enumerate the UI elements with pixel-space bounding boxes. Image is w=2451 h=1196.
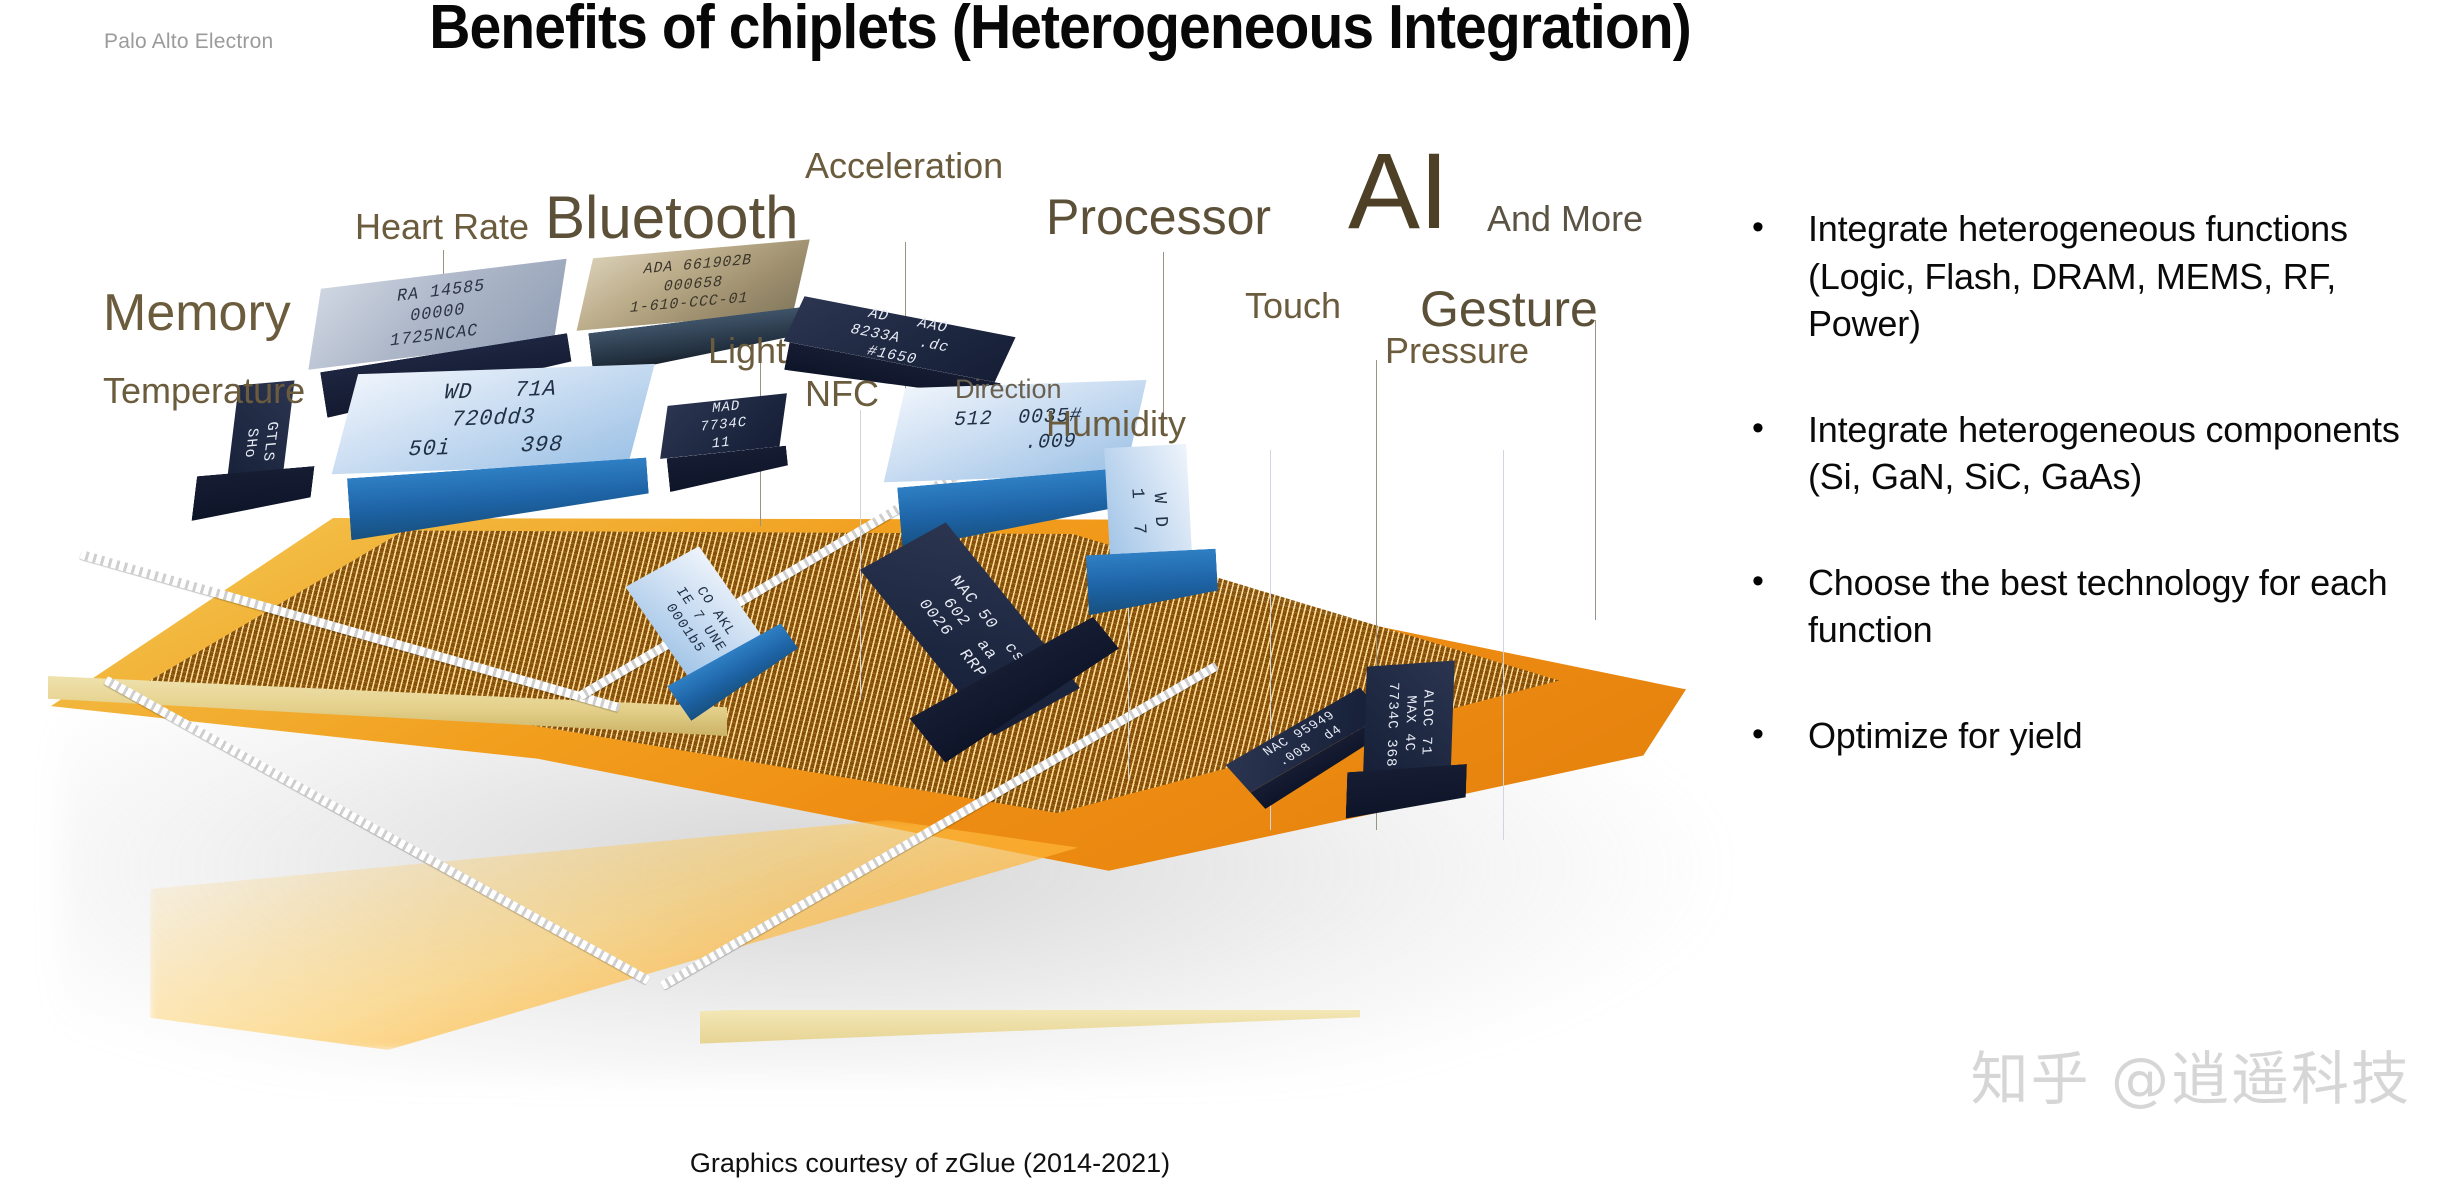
label-heart-rate: Heart Rate bbox=[355, 206, 529, 248]
bluetooth-chip: WD 71A 720dd3 50i 398 bbox=[340, 360, 650, 531]
list-item: • Integrate heterogeneous functions (Log… bbox=[1740, 205, 2440, 348]
label-temperature: Temperature bbox=[103, 370, 305, 412]
bluetooth-chip-markings: WD 71A 720dd3 50i 398 bbox=[332, 364, 655, 474]
temperature-chip: GTLS SHo bbox=[192, 409, 321, 513]
label-light: Light bbox=[708, 330, 786, 372]
bullet-text: Choose the best technology for each func… bbox=[1808, 559, 2440, 654]
watermark: 知乎 @逍遥科技 bbox=[1971, 1032, 2411, 1116]
list-item: • Optimize for yield bbox=[1740, 712, 2440, 760]
bullet-text: Optimize for yield bbox=[1808, 712, 2083, 760]
bullet-marker: • bbox=[1740, 712, 1808, 760]
label-nfc: NFC bbox=[805, 373, 879, 415]
label-ai: AI bbox=[1348, 128, 1448, 253]
leader-pressure bbox=[1503, 450, 1504, 840]
label-touch: Touch bbox=[1245, 285, 1341, 327]
label-acceleration: Acceleration bbox=[805, 145, 1003, 187]
bullet-marker: • bbox=[1740, 406, 1808, 501]
bullet-marker: • bbox=[1740, 205, 1808, 348]
bullet-text: Integrate heterogeneous components (Si, … bbox=[1808, 406, 2440, 501]
page-title: Benefits of chiplets (Heterogeneous Inte… bbox=[85, 0, 2035, 63]
label-humidity: Humidity bbox=[1046, 403, 1186, 445]
nfc-chip: MAD 7734C 11 bbox=[661, 394, 789, 486]
bullet-text: Integrate heterogeneous functions (Logic… bbox=[1808, 205, 2440, 348]
gesture-chip: W D 1 7 bbox=[1082, 467, 1219, 609]
label-and-more: And More bbox=[1487, 198, 1643, 240]
chiplet-illustration: RA 14585 00000 1725NCAC ADA 661902B 0006… bbox=[0, 120, 1760, 1140]
list-item: • Integrate heterogeneous components (Si… bbox=[1740, 406, 2440, 501]
label-pressure: Pressure bbox=[1385, 330, 1529, 372]
label-processor: Processor bbox=[1046, 188, 1271, 246]
label-memory: Memory bbox=[103, 283, 291, 343]
label-direction: Direction bbox=[955, 374, 1062, 405]
label-bluetooth: Bluetooth bbox=[545, 183, 799, 252]
benefits-list: • Integrate heterogeneous functions (Log… bbox=[1740, 205, 2440, 817]
ai-chip: ALOC 71 MAX 4C 7734C 368 bbox=[1346, 676, 1470, 810]
bullet-marker: • bbox=[1740, 559, 1808, 654]
temperature-chip-side bbox=[191, 466, 314, 521]
figure-caption: Graphics courtesy of zGlue (2014-2021) bbox=[0, 1148, 1860, 1179]
leader-gesture bbox=[1595, 320, 1596, 620]
list-item: • Choose the best technology for each fu… bbox=[1740, 559, 2440, 654]
